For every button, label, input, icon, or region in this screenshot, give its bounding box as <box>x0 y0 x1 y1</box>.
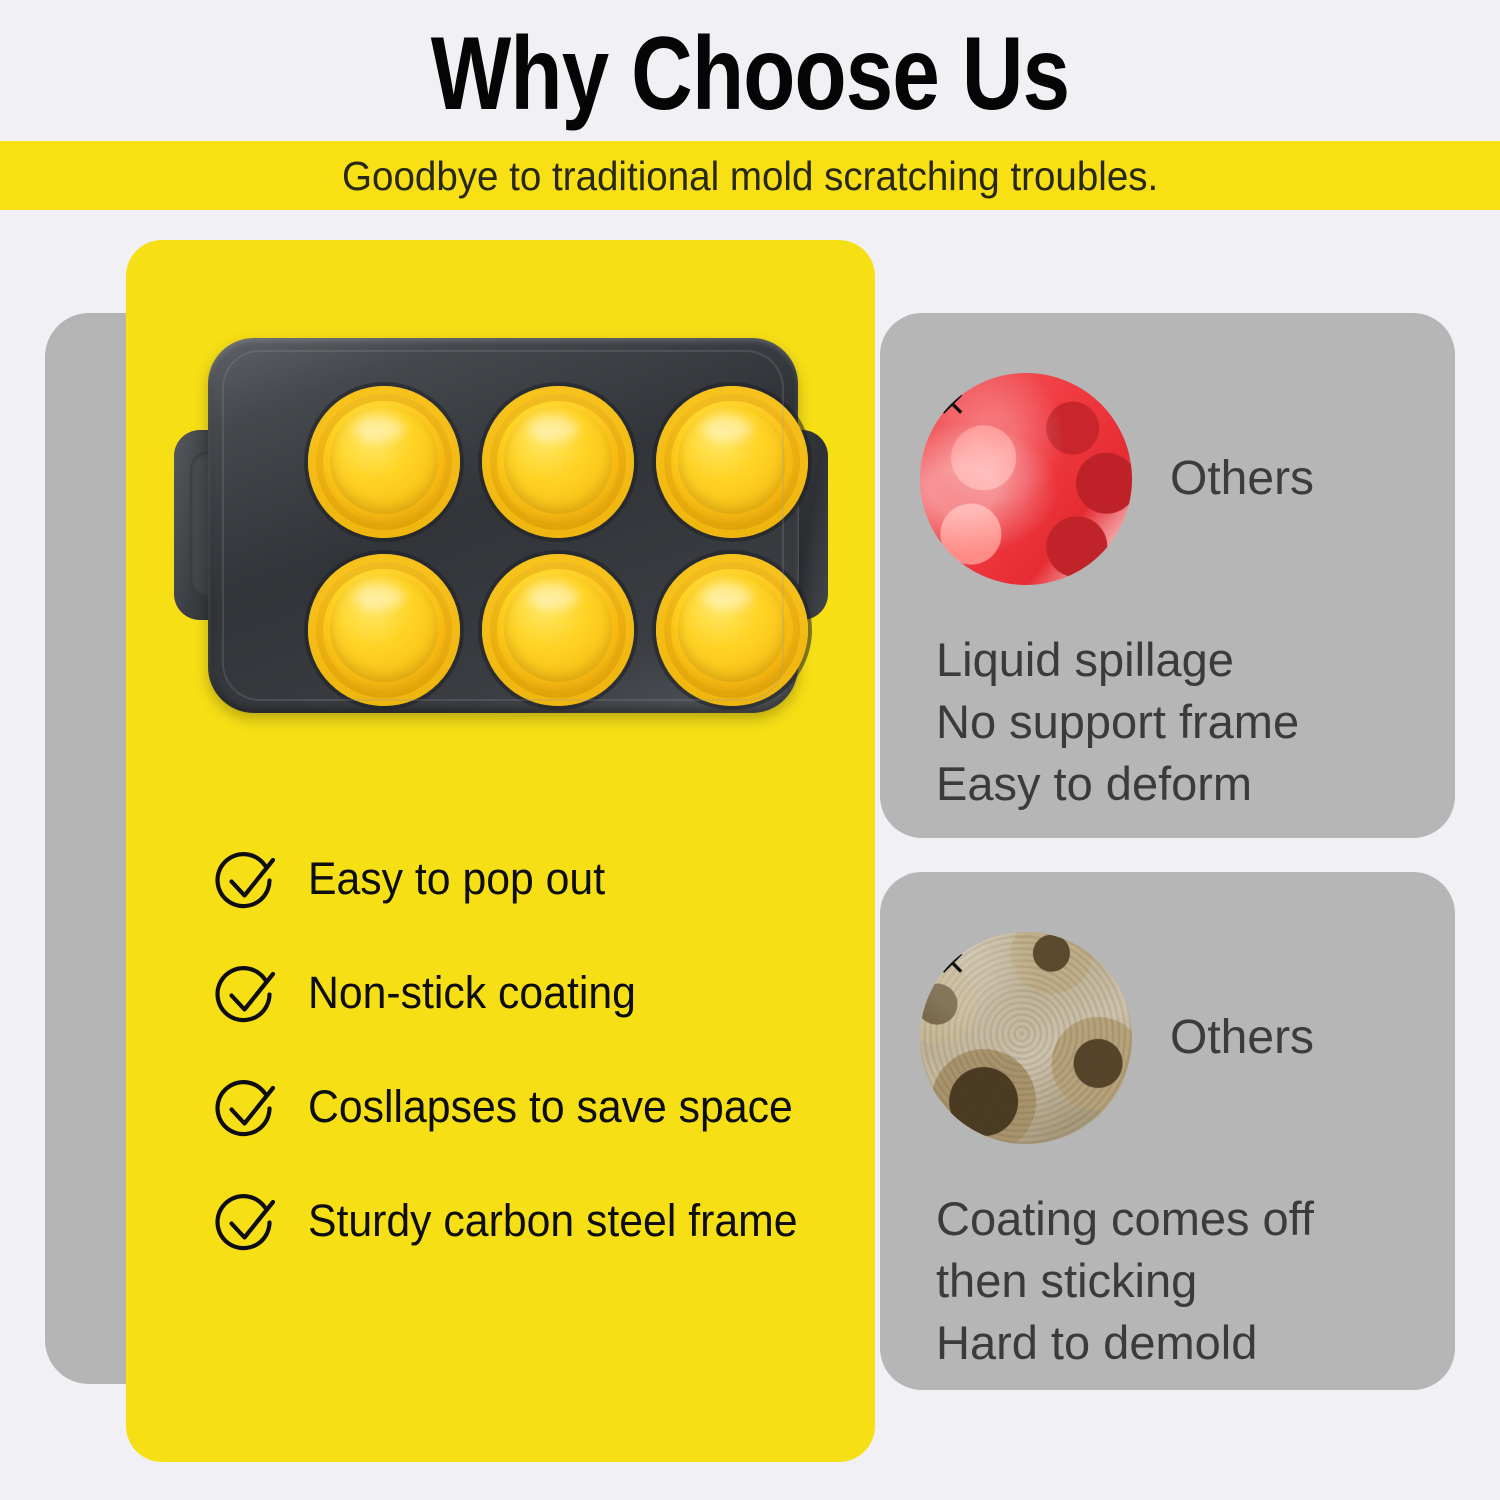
feature-label: Non-stick coating <box>308 964 636 1021</box>
check-circle-icon <box>210 1188 284 1262</box>
feature-item: Easy to pop out <box>210 850 850 920</box>
comparison-card-coating-comes-off: × Others Coating comes off then sticking… <box>880 872 1455 1390</box>
feature-label: Easy to pop out <box>308 850 605 907</box>
feature-item: Cosllapses to save space <box>210 1078 850 1148</box>
drawback-list: Liquid spillage No support frame Easy to… <box>936 629 1429 815</box>
muffin-pan-image <box>140 324 860 724</box>
comparison-photo-row: × Others <box>920 373 1314 585</box>
pan-cup <box>656 386 808 538</box>
check-circle-icon <box>210 846 284 920</box>
drawback-line: Hard to demold <box>936 1312 1429 1374</box>
subtitle-text: Goodbye to traditional mold scratching t… <box>342 153 1158 199</box>
pan-cup <box>656 554 808 706</box>
drawback-line: then sticking <box>936 1250 1429 1312</box>
others-label: Others <box>1170 452 1314 506</box>
product-highlight-card: Easy to pop out Non-stick coating Coslla… <box>126 240 875 1462</box>
drawback-line: Coating comes off <box>936 1188 1429 1250</box>
comparison-card-liquid-spillage: × Others Liquid spillage No support fram… <box>880 313 1455 838</box>
drawback-line: No support frame <box>936 691 1429 753</box>
x-mark-icon: × <box>926 936 978 988</box>
subtitle-banner: Goodbye to traditional mold scratching t… <box>0 141 1500 210</box>
feature-label: Sturdy carbon steel frame <box>308 1192 797 1249</box>
feature-label: Cosllapses to save space <box>308 1078 793 1135</box>
pan-cup <box>482 386 634 538</box>
feature-item: Non-stick coating <box>210 964 850 1034</box>
feature-list: Easy to pop out Non-stick coating Coslla… <box>210 850 850 1306</box>
pan-cup <box>482 554 634 706</box>
drawback-line: Liquid spillage <box>936 629 1429 691</box>
drawback-list: Coating comes off then sticking Hard to … <box>936 1188 1429 1374</box>
others-label: Others <box>1170 1011 1314 1065</box>
pan-body <box>208 338 798 713</box>
drawback-line: Easy to deform <box>936 753 1429 815</box>
pan-cup <box>308 386 460 538</box>
comparison-photo-row: × Others <box>920 932 1314 1144</box>
feature-item: Sturdy carbon steel frame <box>210 1192 850 1262</box>
check-circle-icon <box>210 960 284 1034</box>
worn-rusty-pan-photo: × <box>920 932 1132 1144</box>
x-mark-icon: × <box>926 377 978 429</box>
pan-cup <box>308 554 460 706</box>
page-title: Why Choose Us <box>135 14 1365 134</box>
check-circle-icon <box>210 1074 284 1148</box>
red-silicone-mold-photo: × <box>920 373 1132 585</box>
